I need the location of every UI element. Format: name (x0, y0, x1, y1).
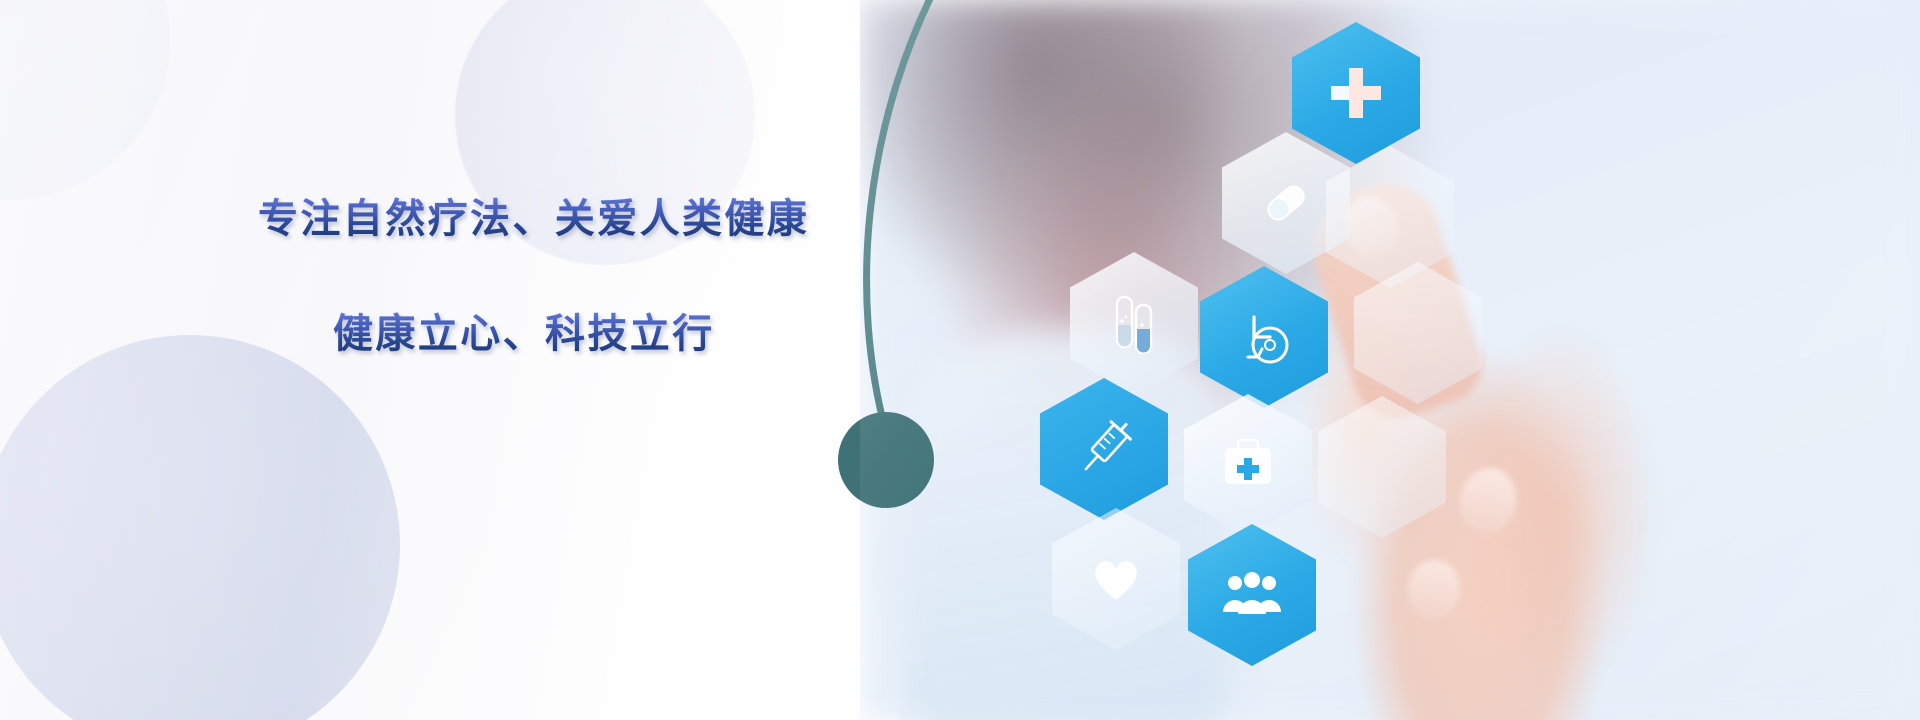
hexagon-cell-empty-3 (1318, 396, 1446, 538)
hexagon-cell-medical-cross[interactable] (1292, 22, 1420, 164)
headline-secondary: 健康立心、科技立行 (333, 301, 715, 359)
teal-arc-group (840, 0, 1020, 720)
hexagon-cell-wheelchair[interactable] (1200, 266, 1328, 408)
teal-arc-curve (867, 0, 950, 432)
hexagon-cell-first-aid-kit[interactable] (1184, 394, 1312, 536)
hexagon-cell-test-tubes[interactable] (1070, 252, 1198, 394)
syringe-icon (1071, 416, 1137, 482)
pill-capsule-icon (1254, 171, 1318, 235)
wheelchair-icon (1232, 305, 1296, 369)
hero-banner: 专注自然疗法、关爱人类健康 健康立心、科技立行 (0, 0, 1920, 720)
first-aid-kit-icon (1218, 436, 1278, 494)
heart-icon (1087, 552, 1145, 606)
test-tubes-icon (1105, 291, 1163, 355)
teal-arc-endpoint-dot (838, 412, 934, 508)
hexagon-cell-empty-2 (1354, 262, 1482, 404)
people-group-icon (1221, 570, 1283, 620)
hexagon-cell-people-group[interactable] (1188, 524, 1316, 666)
headline-block: 专注自然疗法、关爱人类健康 健康立心、科技立行 (0, 0, 900, 720)
hexagon-icon-cluster (1080, 0, 1780, 720)
medical-cross-icon (1325, 62, 1387, 124)
headline-primary: 专注自然疗法、关爱人类健康 (258, 186, 809, 244)
